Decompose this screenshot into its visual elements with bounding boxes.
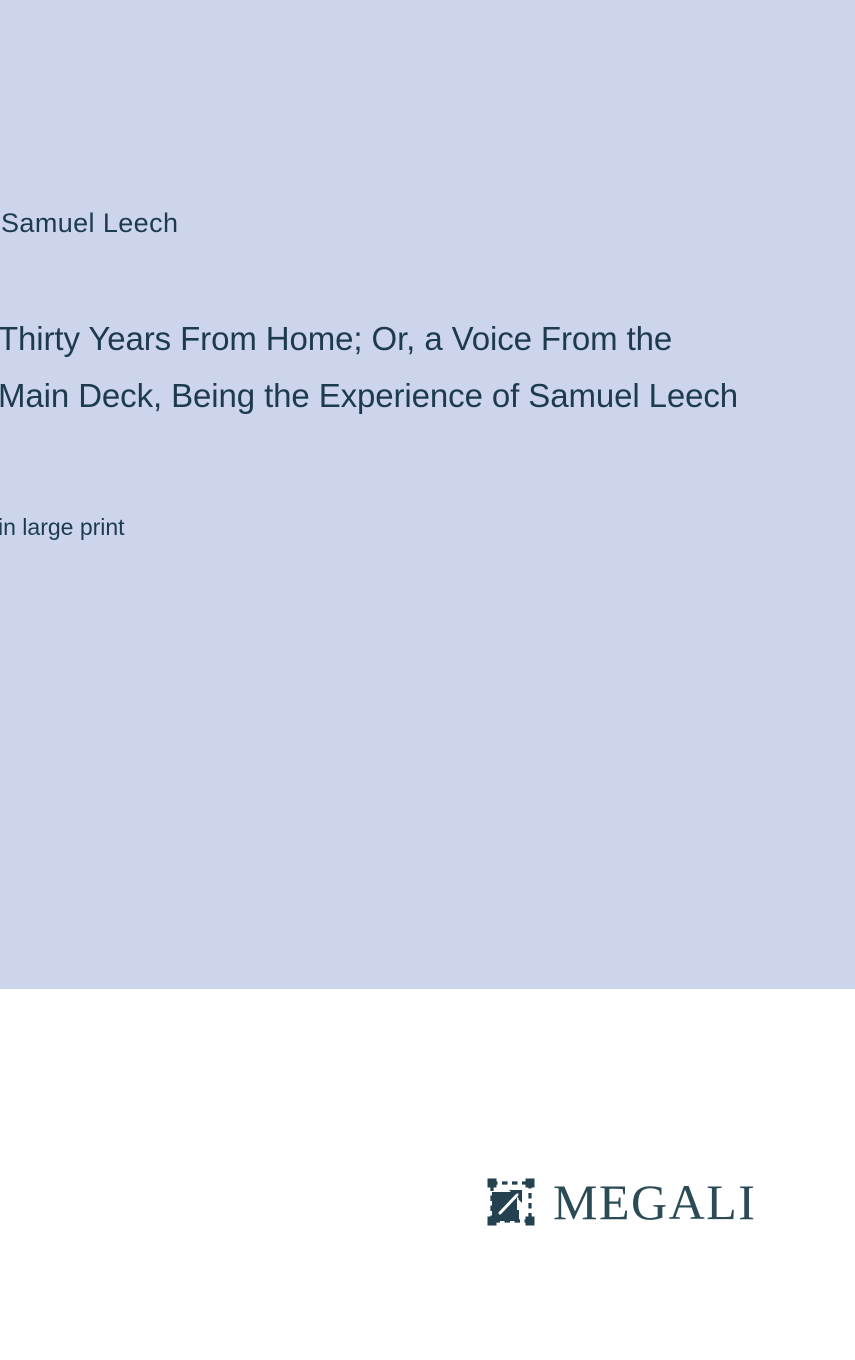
book-subtitle: in large print	[0, 511, 125, 543]
cover-top-panel	[0, 0, 855, 989]
book-cover: Samuel Leech Thirty Years From Home; Or,…	[0, 0, 855, 1360]
author-name: Samuel Leech	[1, 206, 178, 240]
publisher-logo: MEGALI	[487, 1175, 756, 1229]
page-title: Thirty Years From Home; Or, a Voice From…	[0, 310, 743, 424]
transform-resize-icon	[487, 1178, 535, 1226]
publisher-name: MEGALI	[553, 1177, 756, 1227]
